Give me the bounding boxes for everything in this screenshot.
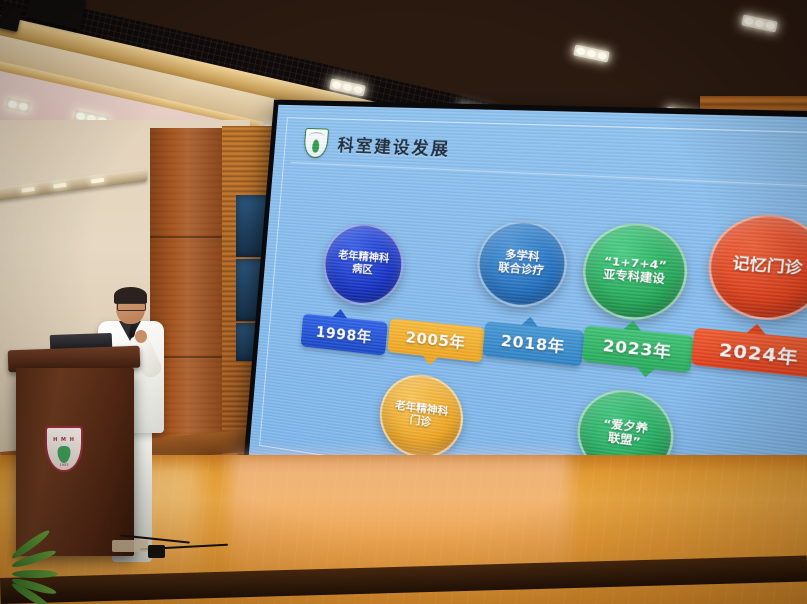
podium-hospital-emblem: H M H 1953 <box>45 426 83 472</box>
timeline-year-label: 2023年 <box>602 334 673 364</box>
circle-label-line-2: 门诊 <box>409 415 431 431</box>
presentation-photo-scene: 科室建设发展 老年精神科 病区 多学科 联合诊疗 “1+7+4” 亚专科建设 记… <box>0 0 807 604</box>
floor-junction-box <box>148 545 165 558</box>
slide-title: 科室建设发展 <box>337 131 452 160</box>
emblem-text: H M H <box>47 437 81 443</box>
ceiling-light-5 <box>573 44 610 62</box>
circle-label-line-1: 记忆门诊 <box>731 255 803 279</box>
timeline-year-label: 2005年 <box>405 326 466 354</box>
timeline-year-label: 2018年 <box>500 329 566 358</box>
speaker-glasses-icon <box>117 303 146 311</box>
emblem-shield-icon <box>58 446 71 463</box>
emblem-year: 1953 <box>47 463 81 467</box>
timeline-year-label: 1998年 <box>315 321 373 348</box>
ceiling-light-11 <box>741 14 778 32</box>
stage-plant <box>0 530 78 604</box>
circle-label-line-2: 病区 <box>352 264 374 279</box>
circle-label-line-2: 联盟” <box>607 432 641 450</box>
speaker-hair <box>114 287 147 304</box>
podium-body: H M H 1953 <box>16 368 134 556</box>
circle-label-line-2: 联合诊疗 <box>498 262 545 279</box>
timeline-year-label: 2024年 <box>718 337 800 370</box>
speaker-hand <box>135 330 147 343</box>
floor-outlet-plate <box>112 540 148 552</box>
